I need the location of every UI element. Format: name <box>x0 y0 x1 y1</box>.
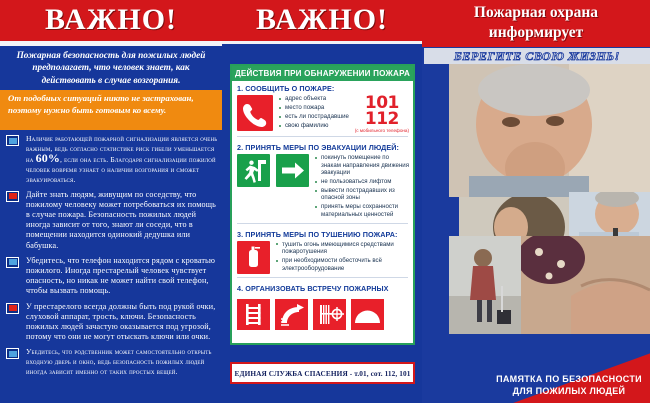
list-item: принять меры сохранности материальных це… <box>315 203 409 218</box>
phone-number-secondary: 112 <box>355 111 409 127</box>
list-item-label: У престарелого всегда должны быть под ру… <box>26 302 220 343</box>
slogan-banner: БЕРЕГИТЕ СВОЮ ЖИЗНЬ! <box>424 48 650 64</box>
emergency-service-bar: ЕДИНАЯ СЛУЖБА СПАСЕНИЯ - т.01, сот. 112,… <box>230 362 415 384</box>
orange-banner-text: От подобных ситуаций никто не застрахова… <box>8 93 206 116</box>
list-item: при необходимости обесточить всё электро… <box>276 257 409 272</box>
right-column: Пожарная охрана информирует БЕРЕГИТЕ СВО… <box>422 0 650 403</box>
emergency-exit-icon <box>237 154 270 187</box>
right-title-line2: информирует <box>422 23 650 43</box>
elderly-person-walking-photo <box>449 236 521 334</box>
section-title: 4. ОРГАНИЗОВАТЬ ВСТРЕЧУ ПОЖАРНЫХ <box>237 284 409 293</box>
holding-hands-closeup-photo <box>521 236 650 334</box>
divider <box>237 136 408 137</box>
section-report-fire: 1. СООБЩИТЬ О ПОЖАРЕ: адрес объекта мест… <box>232 81 413 133</box>
list-item: покинуть помещение по знакам направления… <box>315 154 409 176</box>
fire-hose-reel-icon <box>313 299 346 330</box>
left-intro-text: Пожарная безопасность для пожилых людей … <box>8 50 214 87</box>
left-red-header: ВАЖНО! <box>0 0 222 41</box>
fire-equipment-icons <box>232 295 413 330</box>
action-card-title: ДЕЙСТВИЯ ПРИ ОБНАРУЖЕНИИ ПОЖАРА <box>232 66 413 81</box>
list-item: Убедитесь, что родственник может самосто… <box>4 347 220 377</box>
phone-handset-icon <box>237 95 273 131</box>
list-item: свою фамилию <box>279 122 353 129</box>
blue-square-icon <box>6 135 19 146</box>
section-meet-firefighters: 4. ОРГАНИЗОВАТЬ ВСТРЕЧУ ПОЖАРНЫХ <box>232 281 413 293</box>
list-item-label: Убедитесь, что родственник может самосто… <box>26 347 220 377</box>
list-item: тушить огонь имеющимися средствами пожар… <box>276 241 409 256</box>
list-item: Дайте знать людям, живущим по соседству,… <box>4 190 220 251</box>
right-title-line1: Пожарная охрана <box>422 3 650 23</box>
list-item-label: Убедитесь, что телефон находится рядом с… <box>26 256 220 297</box>
emergency-numbers: 101 112 (с мобильного телефона) <box>353 95 409 133</box>
center-headline: ВАЖНО! <box>222 2 422 38</box>
list-item: есть ли пострадавшие <box>279 113 353 120</box>
blue-square-icon <box>6 257 19 268</box>
list-item: У престарелого всегда должны быть под ру… <box>4 302 220 343</box>
orange-banner: От подобных ситуаций никто не застрахова… <box>0 90 222 130</box>
red-square-icon <box>6 303 19 314</box>
left-column: ВАЖНО! Пожарная безопасность для пожилых… <box>0 0 222 403</box>
phone-note: (с мобильного телефона) <box>355 128 409 133</box>
right-title: Пожарная охрана информирует <box>422 3 650 43</box>
list-item: место пожара <box>279 104 353 111</box>
center-white-stripe <box>222 41 422 44</box>
list-item: Наличие работающей пожарной сигнализации… <box>4 134 220 185</box>
fire-extinguisher-icon <box>237 241 270 274</box>
list-item: не пользоваться лифтом <box>315 178 409 185</box>
left-headline: ВАЖНО! <box>0 2 222 38</box>
fire-nozzle-icon <box>275 299 308 330</box>
section-extinguish: 3. ПРИНЯТЬ МЕРЫ ПО ТУШЕНИЮ ПОЖАРА: тушит… <box>232 227 413 274</box>
right-red-header: Пожарная охрана информирует <box>422 0 650 47</box>
emergency-service-text: ЕДИНАЯ СЛУЖБА СПАСЕНИЯ - т.01, сот. 112,… <box>234 369 410 378</box>
arrow-right-icon <box>276 154 309 187</box>
divider <box>237 277 408 278</box>
fire-ladder-icon <box>237 299 270 330</box>
left-white-stripe <box>0 41 222 46</box>
blue-square-icon <box>6 348 19 359</box>
slogan-text: БЕРЕГИТЕ СВОЮ ЖИЗНЬ! <box>454 49 620 64</box>
action-card: ДЕЙСТВИЯ ПРИ ОБНАРУЖЕНИИ ПОЖАРА 1. СООБЩ… <box>230 64 415 345</box>
list-item-label: Наличие работающей пожарной сигнализации… <box>26 134 220 185</box>
divider <box>237 223 408 224</box>
section-items: тушить огонь имеющимися средствами пожар… <box>276 241 409 274</box>
left-bullet-list: Наличие работающей пожарной сигнализации… <box>4 134 220 382</box>
fire-blanket-icon <box>351 299 384 330</box>
section-evacuation: 2. ПРИНЯТЬ МЕРЫ ПО ЭВАКУАЦИИ ЛЮДЕЙ: поки <box>232 140 413 220</box>
section-items: покинуть помещение по знакам направления… <box>315 154 409 220</box>
list-item-label: Дайте знать людям, живущим по соседству,… <box>26 190 220 251</box>
right-footer-text: ПАМЯТКА ПО БЕЗОПАСНОСТИ ДЛЯ ПОЖИЛЫХ ЛЮДЕ… <box>494 374 644 397</box>
center-column: ВАЖНО! ДЕЙСТВИЯ ПРИ ОБНАРУЖЕНИИ ПОЖАРА 1… <box>222 0 422 403</box>
center-red-header: ВАЖНО! <box>222 0 422 41</box>
red-square-icon <box>6 191 19 202</box>
fire-safety-poster: ВАЖНО! Пожарная безопасность для пожилых… <box>0 0 650 403</box>
section-title: 1. СООБЩИТЬ О ПОЖАРЕ: <box>237 84 409 93</box>
section-items: адрес объекта место пожара есть ли постр… <box>279 95 353 131</box>
elderly-man-thinking-photo <box>449 64 650 197</box>
photo-collage <box>449 64 650 354</box>
list-item: вывести пострадавших из опасной зоны <box>315 187 409 202</box>
section-title: 2. ПРИНЯТЬ МЕРЫ ПО ЭВАКУАЦИИ ЛЮДЕЙ: <box>237 143 409 152</box>
list-item: адрес объекта <box>279 95 353 102</box>
list-item: Убедитесь, что телефон находится рядом с… <box>4 256 220 297</box>
section-title: 3. ПРИНЯТЬ МЕРЫ ПО ТУШЕНИЮ ПОЖАРА: <box>237 230 409 239</box>
